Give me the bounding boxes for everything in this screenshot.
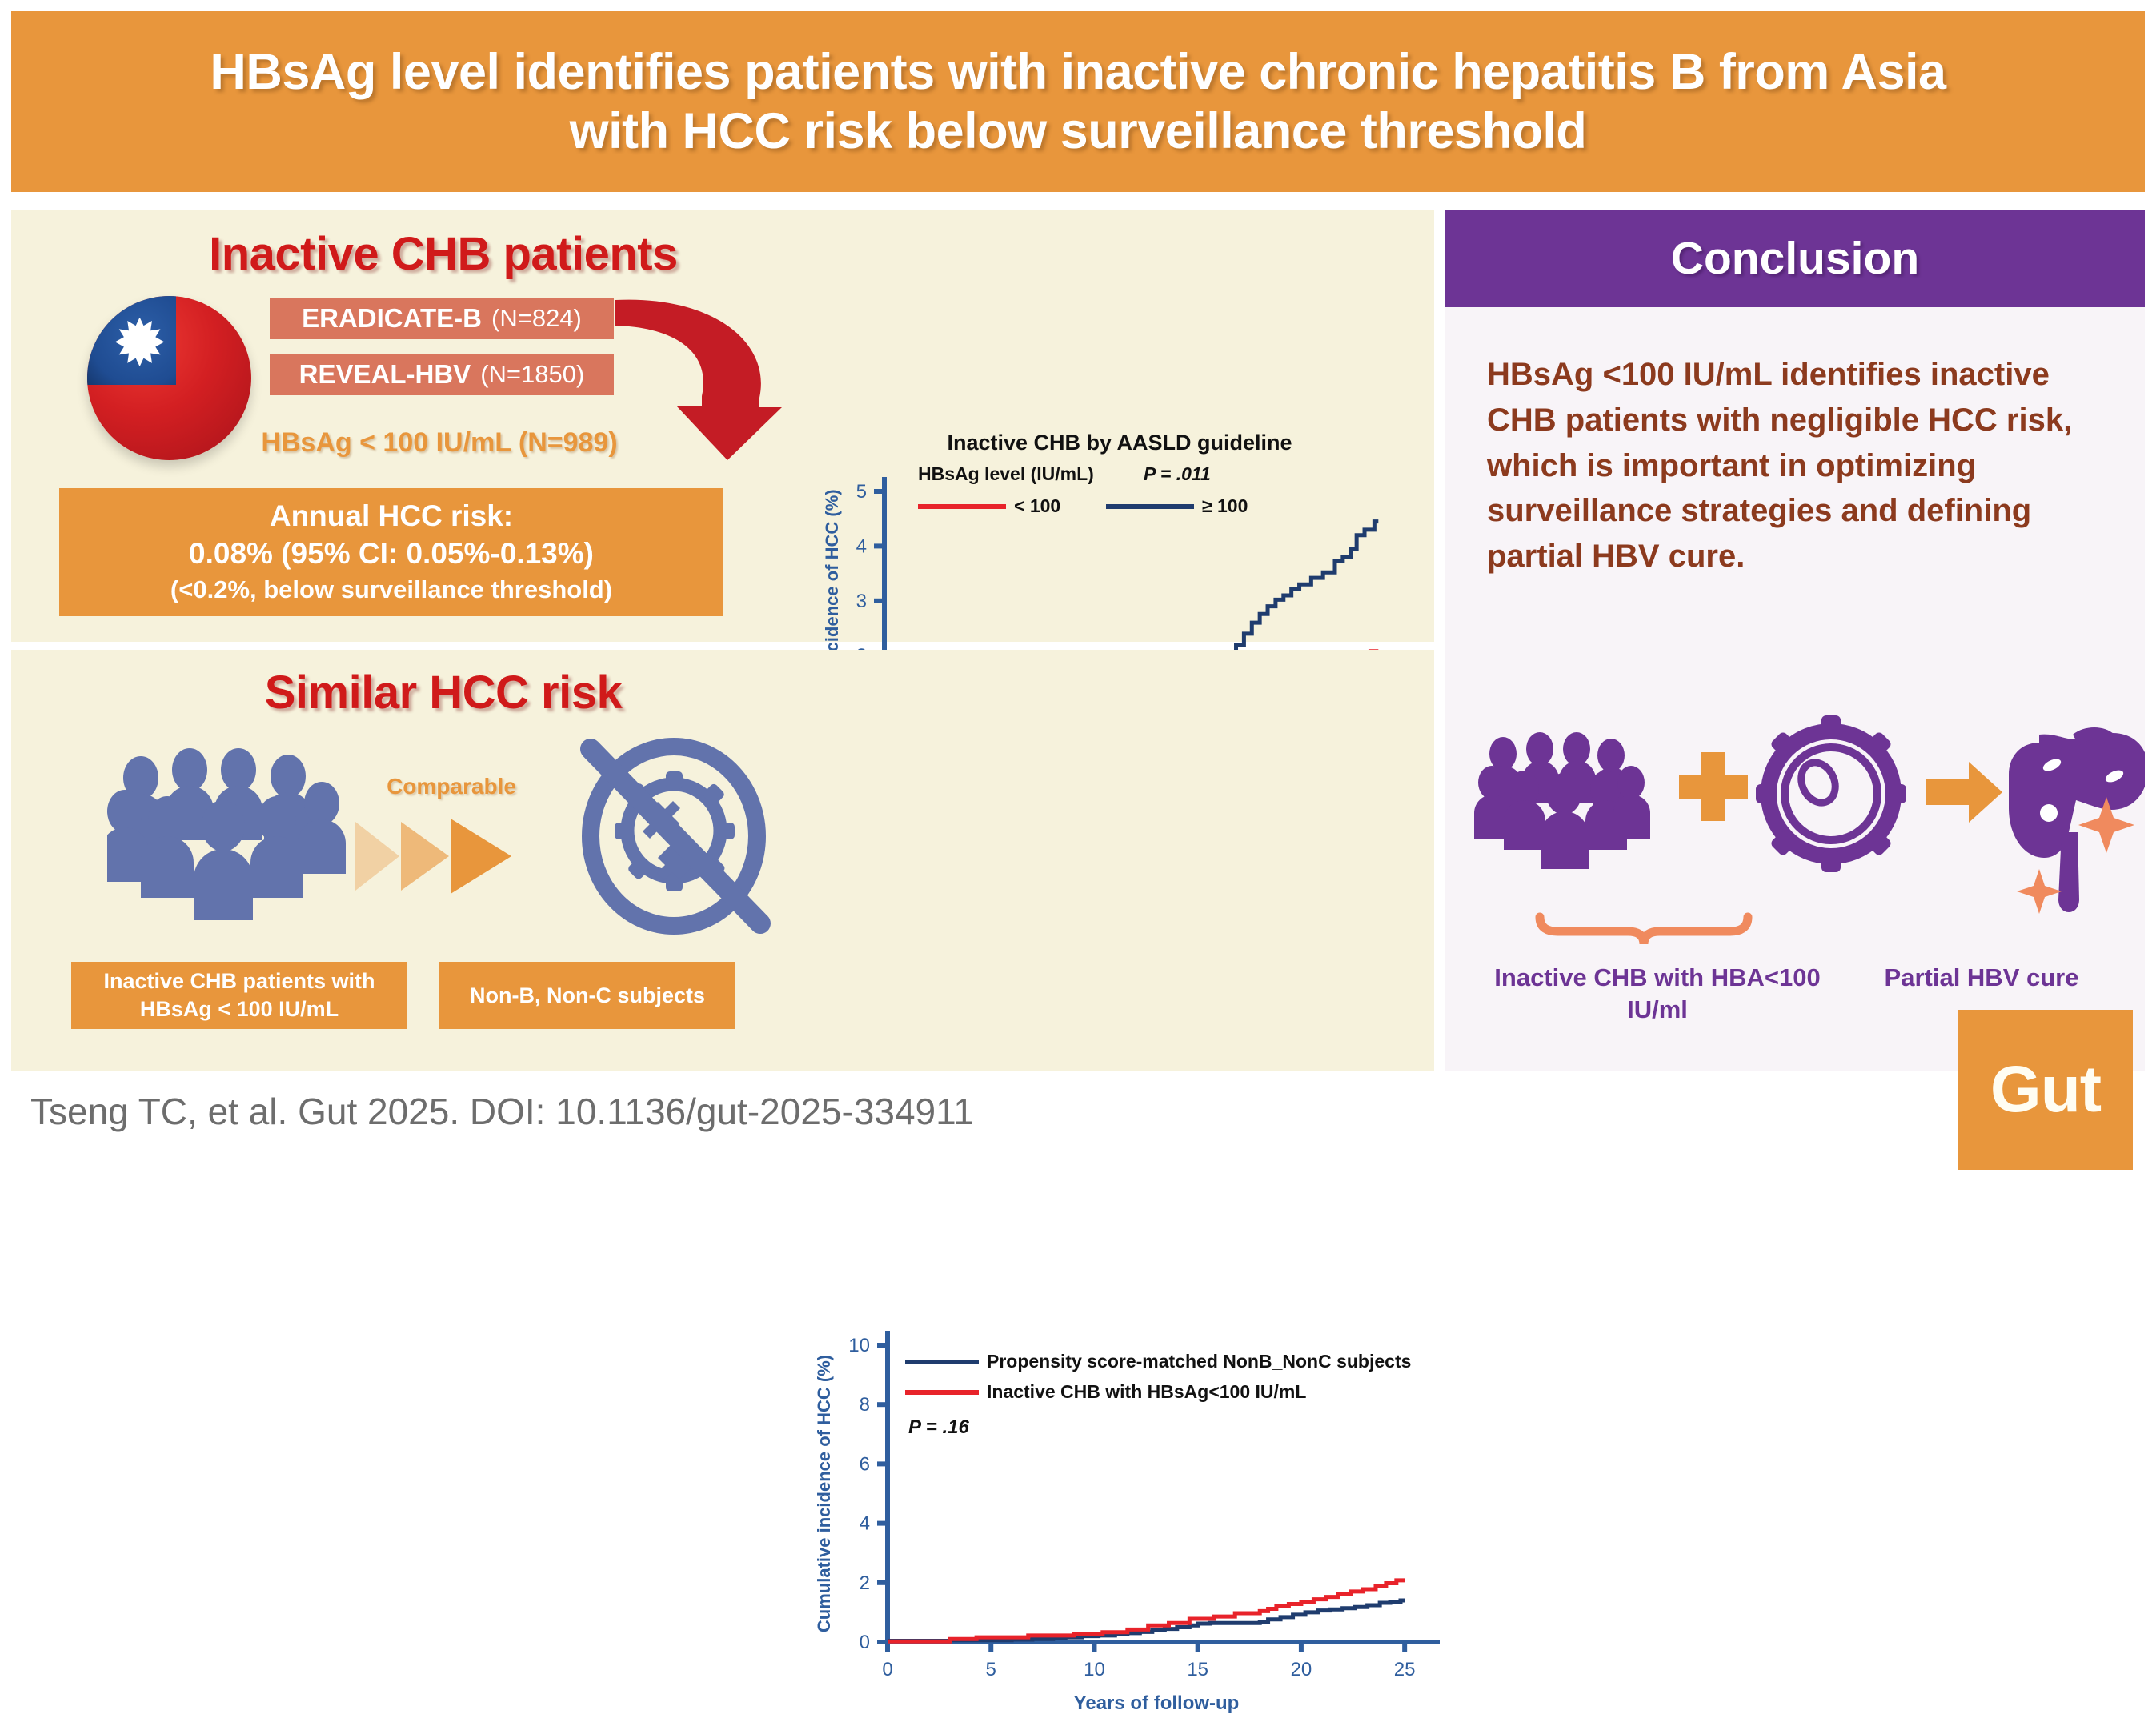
cohort-count: (N=824) (491, 304, 582, 333)
p-value: P = .16 (908, 1416, 969, 1438)
conclusion-body: HBsAg <100 IU/mL identifies inactive CHB… (1445, 307, 2145, 579)
title-banner: HBsAg level identifies patients with ina… (11, 11, 2145, 192)
y-tick-label: 4 (856, 535, 867, 557)
triple-arrow-icon (351, 812, 551, 900)
plus-icon (1679, 752, 1748, 821)
panel-conclusion: Conclusion HBsAg <100 IU/mL identifies i… (1445, 210, 2145, 1071)
x-tick-label: 5 (986, 1659, 996, 1680)
y-tick-label: 2 (860, 1572, 870, 1594)
cohort-name: ERADICATE-B (302, 303, 482, 334)
legend-label-0: < 100 (1014, 495, 1060, 516)
similar-risk-heading: Similar HCC risk (43, 666, 844, 719)
y-tick-label: 4 (860, 1513, 870, 1535)
comparable-label: Comparable (347, 774, 555, 799)
legend-label-1: Inactive CHB with HBsAg<100 IU/mL (987, 1381, 1306, 1402)
gut-journal-logo: Gut (1958, 1010, 2133, 1170)
y-tick-label: 5 (856, 481, 867, 503)
legend-label-0: Propensity score-matched NonB_NonC subje… (987, 1351, 1411, 1372)
chart-propensity: 02468100510152025Years of follow-upCumul… (816, 1318, 1440, 1714)
risk-line-3: (<0.2%, below surveillance threshold) (170, 573, 612, 607)
title-line-1: HBsAg level identifies patients with ina… (210, 44, 1946, 100)
conclusion-icon-row (1445, 712, 2145, 952)
sparkle-icon (2017, 869, 2062, 914)
cohort-count: (N=1850) (480, 360, 584, 389)
virus-cell-icon (1756, 715, 1906, 872)
x-tick-label: 20 (1291, 1659, 1312, 1680)
orange-box-nonb-nonc: Non-B, Non-C subjects (439, 962, 735, 1029)
inactive-chb-heading: Inactive CHB patients (43, 227, 844, 281)
y-tick-label: 6 (860, 1453, 870, 1475)
cohort-bar-reveal-hbv: REVEAL-HBV (N=1850) (270, 354, 614, 395)
cohort-bar-eradicate-b: ERADICATE-B (N=824) (270, 298, 614, 339)
y-tick-label: 10 (848, 1335, 870, 1356)
liver-icon (2009, 727, 2145, 912)
citation: Tseng TC, et al. Gut 2025. DOI: 10.1136/… (30, 1090, 974, 1133)
annual-hcc-risk-box: Annual HCC risk: 0.08% (95% CI: 0.05%-0.… (59, 488, 723, 616)
y-tick-label: 3 (856, 591, 867, 612)
y-axis-label: Cumulative incidence of HCC (%) (816, 1355, 834, 1632)
conclusion-header: Conclusion (1445, 210, 2145, 307)
series-line-0 (888, 1600, 1405, 1640)
conclusion-title: Conclusion (1671, 232, 1919, 285)
chart-title: Inactive CHB by AASLD guideline (947, 434, 1292, 455)
people-group-icon (107, 746, 355, 930)
gut-logo-text: Gut (1990, 1052, 2101, 1127)
no-virus-icon (563, 736, 779, 936)
hbsag-threshold-label: HBsAg < 100 IU/mL (N=989) (235, 427, 643, 459)
y-tick-label: 0 (860, 1632, 870, 1653)
legend-label-1: ≥ 100 (1202, 495, 1248, 516)
right-arrow-icon (1926, 762, 2002, 823)
page-title: HBsAg level identifies patients with ina… (210, 42, 1946, 162)
curly-brace-icon (1540, 917, 1748, 944)
p-value: P = .011 (1144, 463, 1211, 484)
conclusion-label-left: Inactive CHB with HBA<100 IU/ml (1469, 962, 1845, 1027)
panel-similar-hcc-risk: Similar HCC risk Comparable (11, 650, 1434, 1071)
x-tick-label: 10 (1084, 1659, 1105, 1680)
cohort-name: REVEAL-HBV (299, 359, 471, 390)
x-tick-label: 25 (1394, 1659, 1416, 1680)
y-tick-label: 8 (860, 1394, 870, 1416)
title-line-2: with HCC risk below surveillance thresho… (570, 103, 1587, 159)
x-axis-label: Years of follow-up (1074, 1692, 1240, 1714)
panel-inactive-chb: Inactive CHB patients ERADICATE-B (N=824… (11, 210, 1434, 642)
people-group-icon (1474, 732, 1650, 869)
x-tick-label: 0 (882, 1659, 892, 1680)
x-tick-label: 15 (1187, 1659, 1208, 1680)
risk-line-1: Annual HCC risk: (270, 498, 513, 535)
orange-box-inactive-chb: Inactive CHB patients with HBsAg < 100 I… (71, 962, 407, 1029)
risk-line-2: 0.08% (95% CI: 0.05%-0.13%) (189, 535, 594, 573)
legend-title: HBsAg level (IU/mL) (918, 463, 1094, 484)
taiwan-flag-sphere-icon (87, 296, 251, 460)
